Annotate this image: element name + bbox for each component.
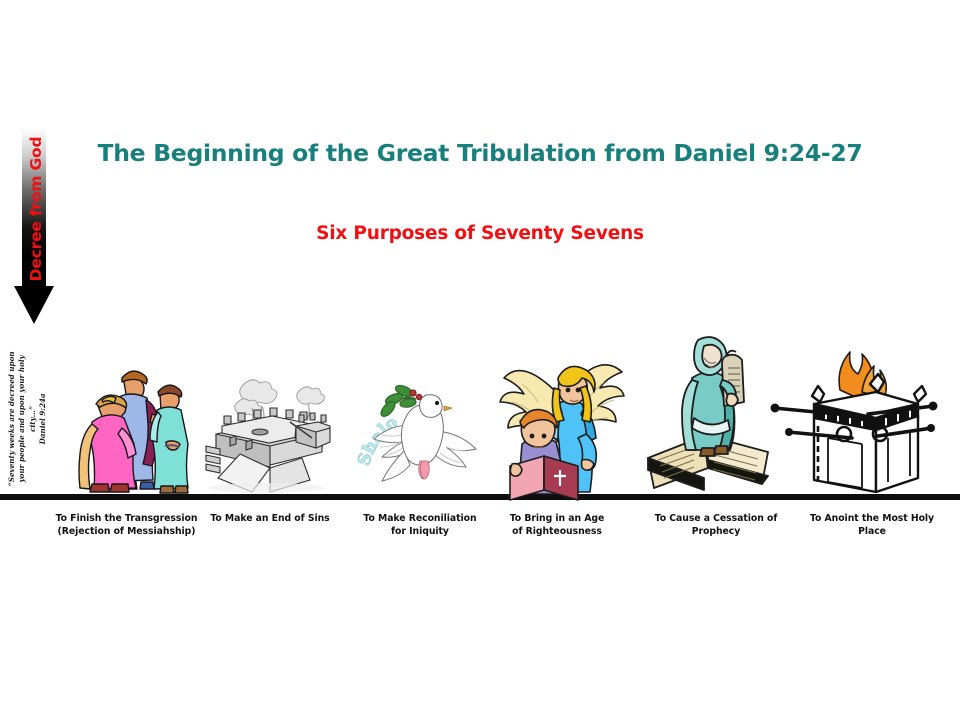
- slide-canvas: The Beginning of the Great Tribulation f…: [0, 0, 960, 720]
- caption-line-1: To Bring in an Age: [510, 513, 605, 524]
- caption-purpose-6: To Anoint the Most Holy Place: [798, 512, 946, 539]
- caption-purpose-2: To Make an End of Sins: [194, 512, 346, 525]
- caption-line-1: To Cause a Cessation of Prophecy: [655, 513, 778, 537]
- decree-arrow-label: Decree from God: [27, 129, 45, 289]
- caption-line-2: of Righteousness: [492, 525, 622, 538]
- scripture-quote-text: “Seventy weeks are decreed upon your peo…: [7, 351, 37, 486]
- decree-from-god-arrow: Decree from God: [14, 128, 54, 324]
- scripture-quote: “Seventy weeks are decreed upon your peo…: [7, 344, 49, 494]
- illustration-angel-righteousness: [498, 348, 628, 494]
- caption-line-1: To Anoint the Most Holy Place: [810, 513, 934, 537]
- caption-purpose-3: To Make Reconiliation for Iniquity: [352, 512, 488, 539]
- caption-purpose-1: To Finish the Transgression (Rejection o…: [44, 512, 209, 539]
- caption-purpose-5: To Cause a Cessation of Prophecy: [636, 512, 796, 539]
- caption-line-1: To Make an End of Sins: [210, 513, 329, 524]
- caption-line-1: To Finish the Transgression: [56, 513, 198, 524]
- arrow-head-icon: [14, 286, 54, 324]
- illustration-altar-end-of-sins: [200, 376, 332, 494]
- illustration-rejection-of-messiah: [62, 346, 190, 494]
- scripture-reference: Daniel 9:24a: [38, 344, 48, 494]
- baseline-bar: [0, 494, 960, 500]
- illustration-altar-most-holy-place: [766, 346, 942, 494]
- caption-line-2: (Rejection of Messiahship): [44, 525, 209, 538]
- illustration-prophet-cessation-of-prophecy: [640, 332, 782, 494]
- caption-line-2: for Iniquity: [352, 525, 488, 538]
- caption-purpose-4: To Bring in an Age of Righteousness: [492, 512, 622, 539]
- page-subtitle: Six Purposes of Seventy Sevens: [0, 223, 960, 244]
- illustration-dove-reconciliation: Shalom: [358, 373, 488, 493]
- caption-line-1: To Make Reconiliation: [363, 513, 476, 524]
- page-title: The Beginning of the Great Tribulation f…: [0, 139, 960, 167]
